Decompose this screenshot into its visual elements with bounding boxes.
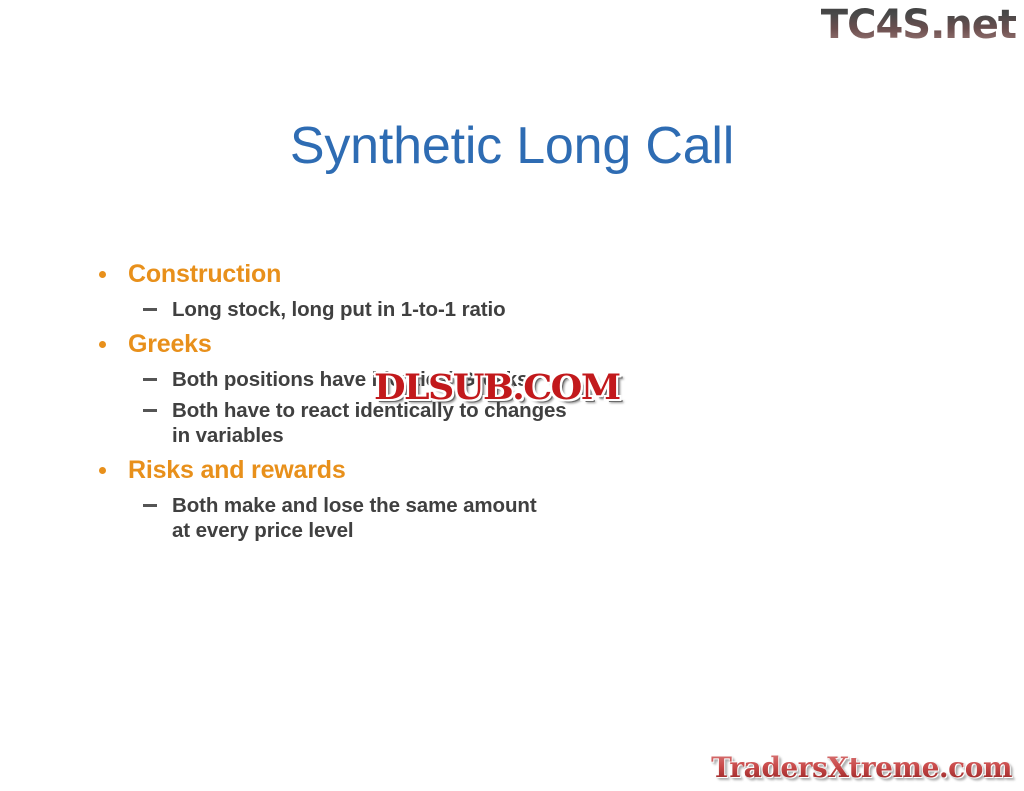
bullet-label: Construction [128, 260, 281, 288]
sub-bullet-construction-1: Long stock, long put in 1-to-1 ratio [90, 297, 710, 322]
dash-icon [143, 409, 157, 412]
tradersxtreme-watermark: TradersXtreme.com [711, 751, 1012, 785]
dlsub-watermark: DLSUB.COM [374, 369, 620, 407]
sub-bullet-text: Both make and lose the same amount [172, 494, 537, 517]
bullet-dot-icon [99, 341, 106, 348]
dash-icon [143, 504, 157, 507]
sub-bullet-text-continued: at every price level [172, 518, 710, 543]
bullet-label: Risks and rewards [128, 456, 346, 484]
tc4s-watermark: TC4S.net [821, 2, 1016, 48]
page-title: Synthetic Long Call [0, 116, 1024, 176]
dash-icon [143, 378, 157, 381]
bullet-label: Greeks [128, 330, 212, 358]
sub-bullet-text: Long stock, long put in 1-to-1 ratio [172, 298, 506, 321]
presentation-slide: TC4S.net Synthetic Long Call Constructio… [0, 0, 1024, 791]
bullet-construction: Construction [90, 258, 710, 291]
bullet-dot-icon [99, 467, 106, 474]
sub-bullet-risks-1: Both make and lose the same amount at ev… [90, 493, 710, 543]
dash-icon [143, 308, 157, 311]
sub-bullet-text-continued: in variables [172, 423, 710, 448]
bullet-risks-and-rewards: Risks and rewards [90, 454, 710, 487]
bullet-greeks: Greeks [90, 328, 710, 361]
bullet-dot-icon [99, 271, 106, 278]
